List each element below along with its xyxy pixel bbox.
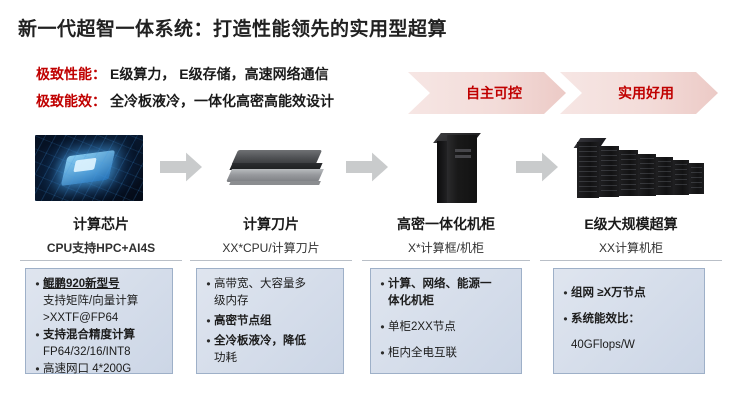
- bullet-text: 功耗: [214, 351, 237, 366]
- bullet-text: 系统能效比：: [571, 312, 640, 327]
- detail-box-blade-server: • 高带宽、大容量多 级内存 • 高密节点组 • 全冷板液冷，降低 功耗: [196, 268, 344, 374]
- chevron-practical-usable: 实用好用: [560, 72, 718, 114]
- bullet-text: >XXTF@FP64: [43, 311, 118, 326]
- stage-image-server-cabinet: [398, 120, 518, 216]
- bullet-text: 单柜2XX节点: [388, 320, 456, 335]
- cpu-chip-photo: [35, 135, 143, 201]
- bullet-dot: •: [203, 277, 214, 292]
- column-subtitle-cpu-chip: CPU支持HPC+AI4S: [20, 239, 182, 256]
- bullet-text: 全冷板液冷，降低: [214, 334, 306, 349]
- bullet-dot: •: [32, 277, 43, 292]
- detail-box-cpu-chip: • 鲲鹏920新型号 支持矩阵/向量计算 >XXTF@FP64 • 支持混合精度…: [25, 268, 173, 374]
- bullet-dot: •: [377, 277, 388, 292]
- bullet-text: 鲲鹏920新型号: [43, 277, 120, 292]
- bullet-dot: •: [560, 312, 571, 327]
- stage-image-cpu-chip: [24, 120, 154, 216]
- bullet-dot: •: [560, 286, 571, 301]
- highlight-label-efficiency: 极致能效：: [36, 91, 106, 111]
- highlight-list: 极致性能： E级算力， E级存储，高速网络通信 极致能效： 全冷板液冷，一体化高…: [36, 64, 436, 118]
- stage-image-blade-server: [212, 120, 342, 216]
- bullet-text: 体化机柜: [388, 294, 434, 309]
- list-item: 40GFlops/W: [560, 338, 696, 353]
- column-divider-cpu-chip: [20, 260, 182, 261]
- bullet-text: FP64/32/16/INT8: [43, 345, 131, 360]
- right-arrow-icon-3: [516, 152, 558, 184]
- column-title-blade-server: 计算刀片: [190, 214, 352, 234]
- highlight-label-performance: 极致性能：: [36, 64, 106, 84]
- column-divider-supercomputer: [540, 260, 722, 261]
- bullet-text: 支持矩阵/向量计算: [43, 294, 138, 309]
- detail-box-supercomputer: • 组网 ≥X万节点 • 系统能效比： 40GFlops/W: [553, 268, 705, 374]
- circuit-traces-decoration: [35, 135, 143, 201]
- column-subtitle-blade-server: XX*CPU/计算刀片: [190, 239, 352, 256]
- list-item: 支持矩阵/向量计算: [32, 294, 164, 309]
- column-divider-blade-server: [190, 260, 352, 261]
- highlight-row-performance: 极致性能： E级算力， E级存储，高速网络通信: [36, 64, 436, 84]
- column-title-supercomputer: E级大规模超算: [540, 214, 722, 234]
- column-heading-blade-server: 计算刀片 XX*CPU/计算刀片: [190, 214, 352, 261]
- list-item: • 组网 ≥X万节点: [560, 286, 696, 301]
- pipeline-image-strip: [0, 120, 740, 216]
- list-item: • 高速网口 4*200G: [32, 362, 164, 377]
- highlight-text-efficiency: 全冷板液冷，一体化高密高能效设计: [110, 91, 334, 111]
- list-item: • 全冷板液冷，降低: [203, 334, 335, 349]
- bullet-text: 高速网口 4*200G: [43, 362, 131, 377]
- list-item: • 高带宽、大容量多: [203, 277, 335, 292]
- column-divider-cabinet: [362, 260, 530, 261]
- column-heading-supercomputer: E级大规模超算 XX计算机柜: [540, 214, 722, 261]
- bullet-text: 级内存: [214, 294, 249, 309]
- right-arrow-icon-1: [160, 152, 202, 184]
- chevron-banner: 自主可控 实用好用: [408, 72, 718, 114]
- bullet-dot: •: [32, 362, 43, 377]
- list-item: • 柜内全电互联: [377, 346, 513, 361]
- datacenter-row-photo: [571, 134, 721, 202]
- bullet-text: 高密节点组: [214, 314, 272, 329]
- column-heading-cpu-chip: 计算芯片 CPU支持HPC+AI4S: [20, 214, 182, 261]
- column-heading-cabinet: 高密一体化机柜 X*计算框/机柜: [362, 214, 530, 261]
- list-item: 功耗: [203, 351, 335, 366]
- list-item: 级内存: [203, 294, 335, 309]
- list-item: • 高密节点组: [203, 314, 335, 329]
- page-title: 新一代超智一体系统：打造性能领先的实用型超算: [18, 14, 447, 41]
- column-subtitle-supercomputer: XX计算机柜: [540, 239, 722, 256]
- list-item: >XXTF@FP64: [32, 311, 164, 326]
- bullet-dot: •: [377, 320, 388, 335]
- chevron-autonomous-controllable: 自主可控: [408, 72, 566, 114]
- bullet-dot: •: [377, 346, 388, 361]
- list-item: FP64/32/16/INT8: [32, 345, 164, 360]
- list-item: • 支持混合精度计算: [32, 328, 164, 343]
- blade-server-photo: [229, 148, 325, 188]
- list-item: • 系统能效比：: [560, 312, 696, 327]
- bullet-dot: •: [203, 314, 214, 329]
- bullet-dot: •: [32, 328, 43, 343]
- highlight-row-efficiency: 极致能效： 全冷板液冷，一体化高密高能效设计: [36, 91, 436, 111]
- highlight-text-performance: E级算力， E级存储，高速网络通信: [110, 64, 329, 84]
- list-item: • 鲲鹏920新型号: [32, 277, 164, 292]
- bullet-text: 高带宽、大容量多: [214, 277, 306, 292]
- bullet-text: 支持混合精度计算: [43, 328, 135, 343]
- bullet-text: 40GFlops/W: [571, 338, 635, 353]
- column-subtitle-cabinet: X*计算框/机柜: [362, 239, 530, 256]
- right-arrow-icon-2: [346, 152, 388, 184]
- list-item: 体化机柜: [377, 294, 513, 309]
- list-item: • 单柜2XX节点: [377, 320, 513, 335]
- server-cabinet-photo: [435, 131, 481, 205]
- bullet-text: 组网 ≥X万节点: [571, 286, 646, 301]
- list-item: • 计算、网络、能源一: [377, 277, 513, 292]
- stage-image-datacenter-row: [566, 120, 726, 216]
- column-title-cabinet: 高密一体化机柜: [362, 214, 530, 234]
- bullet-dot: •: [203, 334, 214, 349]
- bullet-text: 柜内全电互联: [388, 346, 457, 361]
- bullet-text: 计算、网络、能源一: [388, 277, 492, 292]
- column-title-cpu-chip: 计算芯片: [20, 214, 182, 234]
- detail-box-cabinet: • 计算、网络、能源一 体化机柜 • 单柜2XX节点 • 柜内全电互联: [370, 268, 522, 374]
